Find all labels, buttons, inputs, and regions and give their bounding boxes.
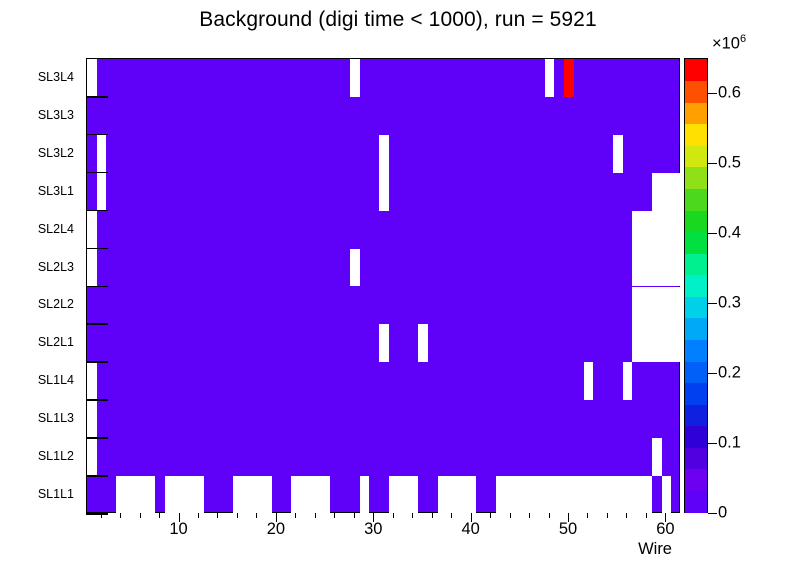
- palette-band: [685, 81, 707, 103]
- y-axis-tick: [86, 399, 108, 401]
- x-axis-minor-tick: [334, 513, 335, 518]
- x-axis-minor-tick: [587, 513, 588, 518]
- heatmap-empty-cell: [632, 249, 681, 287]
- heatmap-plot-area[interactable]: [86, 58, 680, 513]
- palette-tick-label: 0.6: [718, 84, 741, 103]
- palette-band: [685, 124, 707, 146]
- heatmap-empty-cell: [438, 476, 477, 514]
- y-axis-tick-label: SL3L4: [38, 70, 74, 84]
- heatmap-empty-cell: [87, 249, 97, 287]
- y-axis-tick: [86, 323, 108, 325]
- palette-band: [685, 145, 707, 167]
- y-axis-tick-label: SL1L4: [38, 373, 74, 387]
- palette-band: [685, 469, 707, 491]
- heatmap-hot-cell[interactable]: [564, 59, 574, 97]
- x-axis-tick-label: 10: [169, 520, 187, 539]
- y-axis-tick: [86, 210, 108, 212]
- y-axis-tick-label: SL1L2: [38, 449, 74, 463]
- x-axis-minor-tick: [217, 513, 218, 518]
- heatmap-empty-cell: [632, 287, 681, 325]
- palette-exponent-label: ×106: [712, 33, 746, 54]
- palette-ticks: [708, 58, 718, 513]
- x-axis-minor-tick: [237, 513, 238, 518]
- color-palette-bar: [684, 58, 708, 513]
- y-axis-tick: [86, 134, 108, 136]
- palette-band: [685, 361, 707, 383]
- palette-band: [685, 59, 707, 81]
- palette-tick: [708, 373, 717, 374]
- y-axis-tick: [86, 96, 108, 98]
- x-axis-minor-tick: [626, 513, 627, 518]
- heatmap-empty-cell: [623, 362, 633, 400]
- palette-tick-label: 0: [718, 504, 727, 523]
- palette-band: [685, 232, 707, 254]
- y-axis-tick-label: SL2L4: [38, 222, 74, 236]
- heatmap-empty-cell: [545, 59, 555, 97]
- x-axis-tick-label: 20: [267, 520, 285, 539]
- y-axis-tick-label: SL2L3: [38, 260, 74, 274]
- palette-band: [685, 339, 707, 361]
- heatmap-empty-cell: [379, 173, 389, 211]
- heatmap-empty-cell: [652, 173, 681, 211]
- palette-exponent-power: 6: [740, 33, 746, 45]
- y-axis-tick-label: SL2L2: [38, 297, 74, 311]
- palette-band: [685, 167, 707, 189]
- palette-band: [685, 210, 707, 232]
- palette-band: [685, 188, 707, 210]
- y-axis-tick: [86, 437, 108, 439]
- palette-band: [685, 426, 707, 448]
- y-axis-tick-label: SL3L1: [38, 184, 74, 198]
- y-axis-tick: [86, 286, 108, 288]
- palette-tick: [708, 163, 717, 164]
- heatmap-empty-cell: [652, 438, 662, 476]
- palette-band: [685, 275, 707, 297]
- y-axis-tick-label: SL3L2: [38, 146, 74, 160]
- heatmap-empty-cell: [350, 249, 360, 287]
- heatmap-empty-cell: [662, 476, 672, 514]
- palette-band: [685, 383, 707, 405]
- heatmap-empty-cell: [233, 476, 272, 514]
- palette-band: [685, 318, 707, 340]
- palette-band: [685, 253, 707, 275]
- heatmap-empty-cell: [291, 476, 330, 514]
- palette-tick-label: 0.5: [718, 154, 741, 173]
- x-axis-minor-tick: [412, 513, 413, 518]
- heatmap-empty-cell: [165, 476, 204, 514]
- heatmap-empty-cell: [632, 324, 681, 362]
- palette-tick-label: 0.1: [718, 434, 741, 453]
- palette-tick: [708, 513, 717, 514]
- palette-band: [685, 490, 707, 512]
- x-axis-minor-tick: [607, 513, 608, 518]
- palette-tick: [708, 93, 717, 94]
- palette-band: [685, 447, 707, 469]
- heatmap-empty-cell: [584, 362, 594, 400]
- palette-tick-label: 0.2: [718, 364, 741, 383]
- x-axis-minor-tick: [101, 513, 102, 518]
- x-axis-minor-tick: [646, 513, 647, 518]
- heatmap-empty-cell: [418, 324, 428, 362]
- x-axis-minor-tick: [140, 513, 141, 518]
- x-axis-minor-tick: [549, 513, 550, 518]
- heatmap-empty-cell: [87, 362, 97, 400]
- y-axis-tick: [86, 172, 108, 174]
- x-axis-minor-tick: [315, 513, 316, 518]
- y-axis-tick-label: SL1L3: [38, 411, 74, 425]
- root-canvas: Background (digi time < 1000), run = 592…: [0, 0, 796, 572]
- x-axis-tick-labels: 102030405060: [86, 520, 680, 542]
- heatmap-empty-cell: [350, 59, 360, 97]
- x-axis-minor-tick: [393, 513, 394, 518]
- heatmap-empty-cell: [613, 135, 623, 173]
- palette-band: [685, 296, 707, 318]
- palette-tick-label: 0.4: [718, 224, 741, 243]
- palette-exponent-base: ×10: [712, 35, 740, 53]
- y-axis-tick: [86, 248, 108, 250]
- y-axis-tick: [86, 475, 108, 477]
- heatmap-empty-cell: [632, 211, 681, 249]
- x-axis-minor-tick: [354, 513, 355, 518]
- heatmap-empty-cell: [379, 135, 389, 173]
- heatmap-empty-cell: [87, 211, 97, 249]
- y-axis-tick-label: SL1L1: [38, 487, 74, 501]
- palette-tick-labels: 00.10.20.30.40.50.6: [718, 58, 788, 513]
- page-title: Background (digi time < 1000), run = 592…: [0, 8, 796, 32]
- x-axis-tick-label: 50: [559, 520, 577, 539]
- heatmap-empty-cell: [87, 59, 97, 97]
- x-axis-tick-label: 30: [364, 520, 382, 539]
- x-axis-minor-tick: [120, 513, 121, 518]
- x-axis-minor-tick: [295, 513, 296, 518]
- heatmap-empty-cell: [379, 324, 389, 362]
- heatmap-cells: [87, 59, 679, 512]
- palette-band: [685, 404, 707, 426]
- y-axis-labels: SL3L4SL3L3SL3L2SL3L1SL2L4SL2L3SL2L2SL2L1…: [0, 58, 82, 513]
- heatmap-background-fill: [87, 59, 679, 512]
- heatmap-empty-cell: [97, 173, 107, 211]
- x-axis-minor-tick: [529, 513, 530, 518]
- x-axis-minor-tick: [432, 513, 433, 518]
- heatmap-empty-cell: [496, 476, 652, 514]
- palette-tick: [708, 303, 717, 304]
- heatmap-empty-cell: [116, 476, 155, 514]
- x-axis-minor-tick: [256, 513, 257, 518]
- heatmap-empty-cell: [97, 135, 107, 173]
- x-axis-minor-tick: [159, 513, 160, 518]
- heatmap-empty-cell: [360, 476, 370, 514]
- y-axis-tick-label: SL3L3: [38, 108, 74, 122]
- palette-tick-label: 0.3: [718, 294, 741, 313]
- x-axis-tick-label: 40: [461, 520, 479, 539]
- heatmap-empty-cell: [87, 438, 97, 476]
- x-axis-tick-label: 60: [656, 520, 674, 539]
- heatmap-empty-cell: [389, 476, 418, 514]
- x-axis-minor-tick: [198, 513, 199, 518]
- y-axis-tick: [86, 361, 108, 363]
- x-axis-minor-tick: [510, 513, 511, 518]
- palette-tick: [708, 233, 717, 234]
- y-axis-tick-label: SL2L1: [38, 335, 74, 349]
- x-axis-minor-tick: [451, 513, 452, 518]
- heatmap-empty-cell: [87, 400, 97, 438]
- palette-tick: [708, 443, 717, 444]
- x-axis-minor-tick: [490, 513, 491, 518]
- x-axis-title: Wire: [0, 540, 680, 559]
- palette-band: [685, 102, 707, 124]
